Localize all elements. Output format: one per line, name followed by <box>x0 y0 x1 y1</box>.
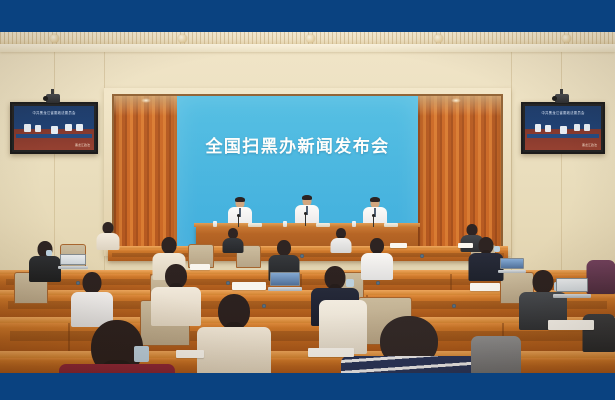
laptop-screen <box>500 258 524 269</box>
laptop-keyboard <box>58 266 88 269</box>
person-torso <box>29 256 61 282</box>
document-on-desk <box>470 283 500 291</box>
document-on-desk <box>176 350 204 358</box>
official-hair <box>302 195 312 200</box>
list-item <box>58 320 176 373</box>
list-item <box>196 294 272 373</box>
wall-camera-left-icon <box>46 94 60 103</box>
document-on-desk <box>190 264 210 270</box>
document-on-desk <box>390 243 407 248</box>
ceiling-rosette-icon <box>434 34 443 43</box>
wall-monitor-right-screen: 中共黑龙江省委政法委员会 黑龙江政法 <box>525 106 601 150</box>
monitor-caption-top: 中共黑龙江省委政法委员会 <box>14 110 94 115</box>
desk-mic-port-icon <box>300 254 304 258</box>
list-item <box>28 241 62 281</box>
face-mask <box>346 279 354 287</box>
person-head <box>533 270 554 294</box>
bench-divider <box>450 274 452 290</box>
monitor-caption-corner: 黑龙江政法 <box>75 143 90 147</box>
person-torso <box>469 253 504 281</box>
monitor-inner-figure <box>535 124 541 131</box>
monitor-inner-desk <box>16 134 91 138</box>
curtain-left <box>114 96 177 256</box>
water-glass-left <box>213 221 217 227</box>
letterbox-bar-top <box>0 0 615 32</box>
wall-monitor-left: 中共黑龙江省委政法委员会 黑龙江政法 <box>10 102 98 154</box>
nameplate-left <box>248 223 262 227</box>
ceiling-spotlight-icon <box>451 98 461 103</box>
list-item <box>150 264 202 324</box>
monitor-inner-figure <box>65 124 71 131</box>
laptop[interactable] <box>556 278 588 298</box>
list-item <box>340 316 478 373</box>
person-torso <box>361 253 393 280</box>
ceiling-rosette-icon <box>50 34 59 43</box>
laptop-keyboard <box>268 287 303 291</box>
desk-mic-port-icon <box>452 304 456 308</box>
person-torso <box>223 238 244 253</box>
wall-monitor-right: 中共黑龙江省委政法委员会 黑龙江政法 <box>521 102 605 154</box>
list-item <box>96 222 120 250</box>
microphone-right-icon <box>373 216 374 227</box>
laptop-screen <box>270 272 300 286</box>
monitor-inner-figure <box>545 125 551 132</box>
person-torso <box>97 233 120 250</box>
wall-panel-seam <box>511 50 512 280</box>
face-mask <box>134 346 149 362</box>
led-display-title: 全国扫黑办新闻发布会 <box>177 132 418 157</box>
face-mask <box>494 246 500 252</box>
laptop[interactable] <box>270 272 300 291</box>
laptop-screen <box>60 254 86 265</box>
monitor-inner-figure <box>51 126 58 133</box>
monitor-inner-figure <box>24 124 30 131</box>
monitor-inner-figure <box>560 126 567 133</box>
list-item <box>586 260 615 294</box>
person-head <box>83 272 102 294</box>
water-glass-center <box>283 221 287 227</box>
desk-mic-port-icon <box>226 281 230 285</box>
laptop[interactable] <box>500 258 524 273</box>
list-item <box>222 228 244 252</box>
monitor-caption-top: 中共黑龙江省委政法委员会 <box>525 110 601 115</box>
desk-mic-port-icon <box>376 281 380 285</box>
list-item <box>470 336 522 373</box>
person-torso <box>197 327 271 373</box>
list-item <box>360 238 393 279</box>
screenshot-canvas: 全国扫黑办新闻发布会 中共黑龙江省委政法委员会 黑龙江政法 中共黑龙江省委政法委… <box>0 0 615 400</box>
water-glass-right <box>352 221 356 227</box>
document-on-desk <box>458 243 473 248</box>
ceiling-rosette-icon <box>562 34 571 43</box>
document-on-desk <box>548 320 594 330</box>
person-torso <box>331 238 352 253</box>
monitor-inner-desk <box>527 134 598 138</box>
laptop-keyboard <box>498 270 526 273</box>
wall-camera-right-icon <box>555 94 569 103</box>
monitor-inner-figure <box>35 125 41 132</box>
letterbox-bar-bottom <box>0 373 615 400</box>
monitor-inner-figure <box>584 124 590 131</box>
microphone-center-icon <box>305 214 306 226</box>
official-hair <box>235 197 245 202</box>
photograph: 全国扫黑办新闻发布会 中共黑龙江省委政法委员会 黑龙江政法 中共黑龙江省委政法委… <box>0 32 615 373</box>
list-item <box>468 237 504 280</box>
person-torso <box>471 336 521 373</box>
ceiling-rosette-icon <box>178 34 187 43</box>
wall-panel-seam <box>561 50 562 280</box>
document-on-desk <box>232 282 266 290</box>
laptop-screen <box>556 278 588 292</box>
monitor-inner-figure <box>76 124 82 131</box>
list-item <box>330 228 352 252</box>
monitor-caption-corner: 黑龙江政法 <box>582 143 597 147</box>
nameplate-center <box>316 223 330 227</box>
monitor-inner-figure <box>574 124 580 131</box>
laptop-keyboard <box>553 294 590 298</box>
desk-mic-port-icon <box>420 254 424 258</box>
person-torso <box>587 260 615 294</box>
person-head <box>277 240 291 256</box>
ceiling-rosette-icon <box>306 34 315 43</box>
document-on-desk <box>308 348 354 357</box>
person-torso <box>341 356 477 373</box>
microphone-left-icon <box>238 216 239 227</box>
nameplate-right <box>384 223 398 227</box>
official-hair <box>370 197 380 202</box>
ceiling-spotlight-icon <box>141 98 151 103</box>
laptop[interactable] <box>60 254 86 269</box>
person-torso <box>59 364 175 373</box>
ceiling-cornice-lower <box>0 44 615 52</box>
list-item <box>70 272 114 326</box>
wall-monitor-left-screen: 中共黑龙江省委政法委员会 黑龙江政法 <box>14 106 94 150</box>
